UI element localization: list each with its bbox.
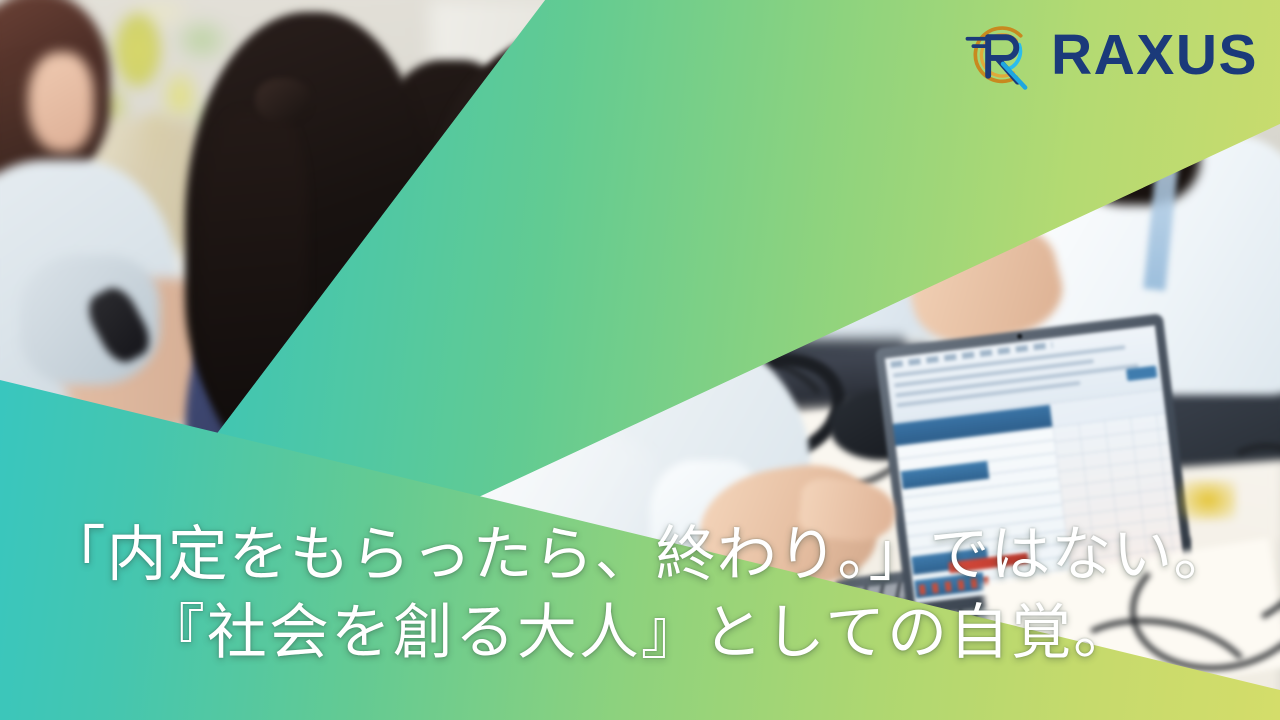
photo-person-2-hair-tie xyxy=(255,78,311,122)
raxus-r-monogram-icon xyxy=(963,18,1037,92)
page-title: 「内定をもらったら、終わり。」ではない。 『社会を創る大人』としての自覚。 xyxy=(0,516,1280,672)
headline-line-1: 「内定をもらったら、終わり。」ではない。 xyxy=(0,516,1280,594)
photo-person-1-face xyxy=(28,52,94,152)
raxus-wordmark: RAXUS xyxy=(1051,27,1258,84)
screen-row-highlight-1 xyxy=(901,461,989,489)
headline-line-2: 『社会を創る大人』としての自覚。 xyxy=(0,594,1280,672)
hero-banner: RAXUS xyxy=(0,0,1280,720)
photo-yellow-accent xyxy=(1180,480,1236,520)
raxus-logo[interactable]: RAXUS xyxy=(963,18,1258,92)
screen-toolbar-button xyxy=(1126,366,1157,382)
